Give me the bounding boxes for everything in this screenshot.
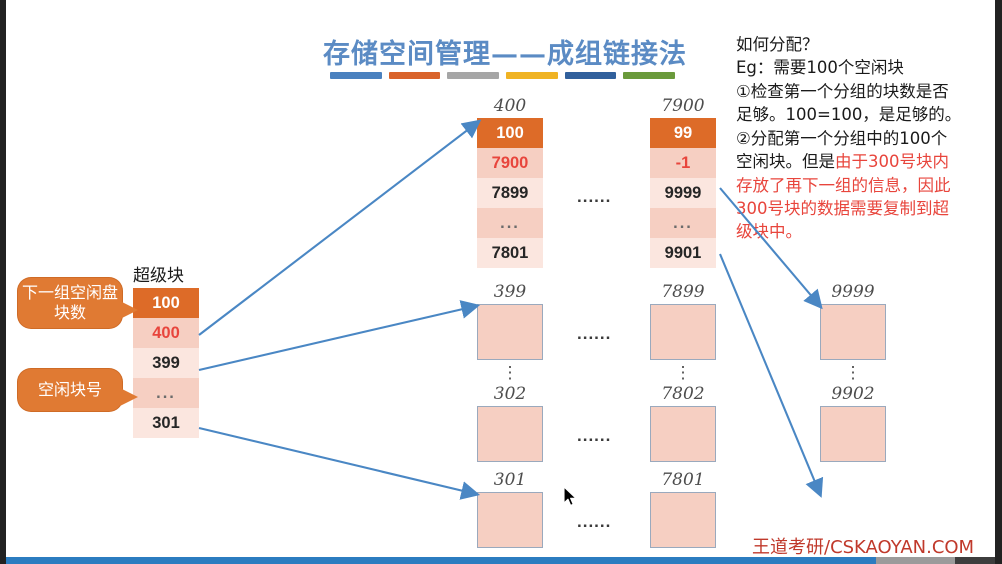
title-bar-1 (389, 72, 441, 79)
block-box-399 (477, 304, 543, 360)
block-box-9999 (820, 304, 886, 360)
callout-next-group-count: 下一组空闲盘块数 (18, 278, 122, 328)
group-400-cell-2: 7899 (477, 178, 543, 208)
block-row-ellipsis: ...... (577, 512, 611, 532)
superblock-cell-4: 301 (133, 408, 199, 438)
explanation-segment: 如何分配？ (736, 35, 819, 54)
superblock-cell-3: ... (133, 378, 199, 408)
explanation-line: 空闲块。但是由于300号块内 (736, 150, 998, 173)
explanation-segment: 300号块的数据需要复制到超 (736, 199, 949, 218)
block-column-vertical-ellipsis: ⋮ (820, 364, 886, 381)
progress-played (6, 557, 876, 564)
explanation-line: ②分配第一个分组中的100个 (736, 127, 998, 150)
group-400-cell-4: 7801 (477, 238, 543, 268)
arrow-superblock-399-to-block399 (199, 306, 476, 370)
callout-free-block-number-label: 空闲块号 (38, 380, 102, 400)
block-label-9999: 9999 (820, 282, 886, 302)
title-bar-4 (565, 72, 617, 79)
group-400-cell-1: 7900 (477, 148, 543, 178)
superblock-label: 超级块 (133, 261, 184, 286)
watermark-bilibili-label: bilibili (110, 16, 193, 46)
group-7900-cell-2: 9999 (650, 178, 716, 208)
explanation-segment: 存放了再下一组的信息，因此 (736, 176, 951, 195)
group-400-cell-0: 100 (477, 118, 543, 148)
callout-tail (120, 388, 138, 406)
explanation-line: 如何分配？ (736, 33, 998, 56)
block-label-302: 302 (477, 384, 543, 404)
callout-tail (120, 301, 138, 319)
arrow-superblock-400-to-group400 (199, 122, 478, 335)
slide-canvas: 王道论坛bilibili 存储空间管理——成组链接法 如何分配？Eg：需要100… (0, 0, 1002, 564)
block-box-9902 (820, 406, 886, 462)
video-progress-bar[interactable] (6, 557, 995, 564)
bilibili-watermark: 王道论坛bilibili (22, 16, 193, 47)
player-left-edge (0, 0, 6, 564)
group-7900-cell-3: ... (650, 208, 716, 238)
title-underline-bars (330, 72, 675, 79)
explanation-line: 300号块的数据需要复制到超 (736, 197, 998, 220)
block-row-ellipsis: ...... (577, 324, 611, 344)
superblock-cell-2: 399 (133, 348, 199, 378)
block-label-301: 301 (477, 470, 543, 490)
block-label-399: 399 (477, 282, 543, 302)
explanation-segment: 足够。100=100，是足够的。 (736, 105, 961, 124)
block-label-7802: 7802 (650, 384, 716, 404)
superblock-table: 100400399...301 (133, 288, 199, 438)
explanation-segment: 级块中。 (736, 222, 802, 241)
course-watermark: 王道考研/CSKAOYAN.COM (752, 533, 974, 559)
block-box-7802 (650, 406, 716, 462)
group-7900-label: 7900 (650, 96, 716, 116)
block-label-7899: 7899 (650, 282, 716, 302)
group-row-ellipsis: ...... (577, 187, 611, 207)
block-label-7801: 7801 (650, 470, 716, 490)
block-row-ellipsis: ...... (577, 426, 611, 446)
callout-next-group-count-label: 下一组空闲盘块数 (18, 283, 122, 323)
superblock-cell-1: 400 (133, 318, 199, 348)
group-7900-cell-1: -1 (650, 148, 716, 178)
block-column-vertical-ellipsis: ⋮ (650, 364, 716, 381)
callout-free-block-number: 空闲块号 (18, 369, 122, 411)
block-box-7801 (650, 492, 716, 548)
block-label-9902: 9902 (820, 384, 886, 404)
superblock-cell-0: 100 (133, 288, 199, 318)
explanation-text: 如何分配？Eg：需要100个空闲块①检查第一个分组的块数是否足够。100=100… (736, 33, 998, 244)
explanation-segment: ②分配第一个分组中的100个 (736, 129, 947, 148)
explanation-line: 存放了再下一组的信息，因此 (736, 174, 998, 197)
explanation-line: Eg：需要100个空闲块 (736, 56, 998, 79)
block-box-301 (477, 492, 543, 548)
block-column-vertical-ellipsis: ⋮ (477, 364, 543, 381)
group-7900-cell-4: 9901 (650, 238, 716, 268)
group-400-table: 10079007899...7801 (477, 118, 543, 268)
explanation-line: 级块中。 (736, 220, 998, 243)
title-bar-0 (330, 72, 382, 79)
explanation-segment: 由于300号块内 (835, 152, 949, 171)
group-7900-cell-0: 99 (650, 118, 716, 148)
explanation-line: 足够。100=100，是足够的。 (736, 103, 998, 126)
slide-title: 存储空间管理——成组链接法 (315, 32, 695, 71)
arrow-superblock-301-to-block301 (199, 428, 476, 494)
block-box-7899 (650, 304, 716, 360)
watermark-forum-label: 王道论坛 (22, 23, 102, 45)
group-7900-table: 99-19999...9901 (650, 118, 716, 268)
explanation-segment: ①检查第一个分组的块数是否 (736, 82, 949, 101)
title-bar-3 (506, 72, 558, 79)
group-400-cell-3: ... (477, 208, 543, 238)
title-bar-2 (447, 72, 499, 79)
arrow-group7900-9901-to-block9901 (720, 254, 820, 494)
mouse-cursor (563, 486, 579, 508)
block-box-302 (477, 406, 543, 462)
explanation-line: ①检查第一个分组的块数是否 (736, 80, 998, 103)
explanation-segment: 空闲块。但是 (736, 152, 835, 171)
explanation-segment: Eg：需要100个空闲块 (736, 58, 904, 77)
group-400-label: 400 (477, 96, 543, 116)
title-bar-5 (623, 72, 675, 79)
